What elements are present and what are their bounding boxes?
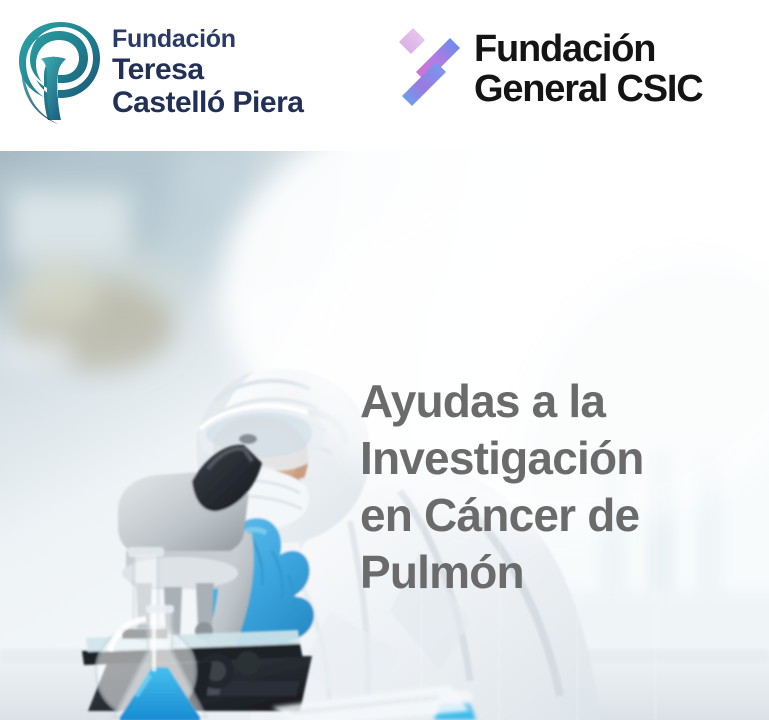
- hero-photo-section: Ayudas a la Investigación en Cáncer de P…: [0, 151, 769, 720]
- hero-heading-line-1: Ayudas a la: [360, 373, 760, 430]
- logo-ftcp-line3: Castelló Piera: [112, 88, 303, 118]
- logo-fgc-wordmark: Fundación General CSIC: [474, 31, 702, 108]
- hero-heading-line-4: Pulmón: [360, 544, 760, 601]
- hero-heading-line-2: Investigación: [360, 430, 760, 487]
- hero-heading-line-3: en Cáncer de: [360, 487, 760, 544]
- promo-banner-page: Fundación Teresa Castelló Piera: [0, 0, 769, 720]
- logo-ftcp-wordmark: Fundación Teresa Castelló Piera: [112, 27, 303, 118]
- logo-fgc-line1: Fundación: [474, 31, 702, 69]
- header-logo-band: Fundación Teresa Castelló Piera: [0, 0, 769, 151]
- logo-ftcp-line2: Teresa: [112, 55, 303, 85]
- logo-ftcp-line1: Fundación: [112, 27, 303, 52]
- diagonal-bars-gradient-mark-icon: [396, 20, 462, 120]
- hero-heading: Ayudas a la Investigación en Cáncer de P…: [360, 373, 760, 601]
- logo-fundacion-general-csic[interactable]: Fundación General CSIC: [396, 20, 702, 120]
- logo-fundacion-teresa-castello-piera[interactable]: Fundación Teresa Castelló Piera: [14, 16, 303, 128]
- p-swoosh-person-mark-icon: [14, 16, 106, 128]
- logo-fgc-line2: General CSIC: [474, 71, 702, 109]
